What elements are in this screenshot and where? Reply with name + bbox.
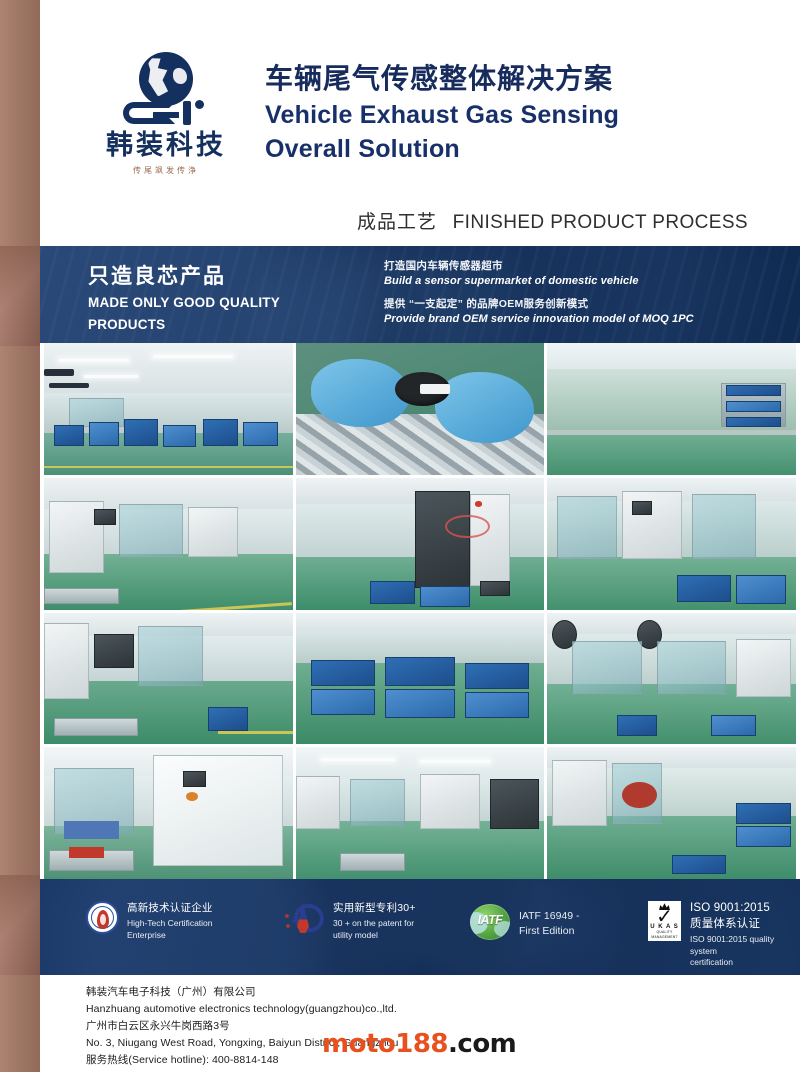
- certification-item: ✓ U K A S QUALITY MANAGEMENT ISO 9001:20…: [648, 901, 780, 968]
- logo-company-name: 韩装科技: [106, 132, 226, 159]
- left-decorative-strip: [0, 0, 40, 1072]
- blue-crates-stacked-on-floor-photo: [296, 613, 545, 745]
- photo-cell: [547, 478, 796, 610]
- cert-desc-line2: utility model: [333, 930, 416, 941]
- cert-title-en: ISO 9001:2015: [690, 901, 780, 917]
- cert-title-cn: 质量体系认证: [690, 917, 780, 933]
- gi-monogram-icon: [123, 97, 209, 127]
- page-header: 韩装科技 传尾飒发传浄 车辆尾气传感整体解决方案 Vehicle Exhaust…: [40, 0, 800, 246]
- banner-point-2-en: Provide brand OEM service innovation mod…: [384, 313, 694, 325]
- certification-bar: 高新技术认证企业 High-Tech Certification Enterpr…: [40, 879, 800, 975]
- banner-slogan-en-line2: PRODUCTS: [88, 316, 280, 334]
- photo-cell: [547, 747, 796, 879]
- poster-page: 韩装科技 传尾飒发传浄 车辆尾气传感整体解决方案 Vehicle Exhaust…: [0, 0, 800, 1072]
- ukas-badge-sub-line2: MANAGEMENT: [651, 935, 677, 939]
- gloved-hands-inspecting-sensor-part-photo: [296, 343, 545, 475]
- photo-cell: [296, 343, 545, 475]
- iatf-badge-label: IATF: [470, 913, 510, 927]
- workers-at-automated-machines-photo: [547, 613, 796, 745]
- banner-point-2-cn: 提供 “一支起定” 的品牌OEM服务创新模式: [384, 296, 694, 311]
- cert-desc-line1: 30 + on the patent for: [333, 918, 416, 929]
- section-heading: 成品工艺 FINISHED PRODUCT PROCESS: [357, 207, 748, 234]
- two-workers-at-production-station-photo: [44, 613, 293, 745]
- certification-item: 高新技术认证企业 High-Tech Certification Enterpr…: [86, 901, 284, 941]
- cert-title-line1: IATF 16949 -: [519, 909, 580, 924]
- ukas-crown-tick-icon: ✓ U K A S QUALITY MANAGEMENT: [648, 901, 681, 941]
- photo-cell: [44, 613, 293, 745]
- strip-sheen: [0, 0, 40, 1072]
- page-title-en-line1: Vehicle Exhaust Gas Sensing: [265, 100, 619, 131]
- photo-cell: [296, 747, 545, 879]
- section-heading-en: FINISHED PRODUCT PROCESS: [453, 212, 748, 233]
- crown-icon: [659, 903, 670, 910]
- patent-rocket-icon: [284, 901, 324, 935]
- cert-title-cn: 实用新型专利30+: [333, 901, 416, 915]
- cert-desc-line1: ISO 9001:2015 quality system: [690, 934, 780, 957]
- white-control-cabinet-room-photo: [44, 747, 293, 879]
- section-heading-cn: 成品工艺: [357, 212, 437, 233]
- photo-cell: [44, 478, 293, 610]
- company-logo: 韩装科技 传尾飒发传浄: [102, 52, 230, 180]
- workers-packing-finished-products-photo: [547, 747, 796, 879]
- workers-assembling-at-bench-photo: [547, 343, 796, 475]
- check-icon: ✓: [656, 910, 673, 924]
- watermark-tld: .com: [448, 1029, 516, 1059]
- certification-item: IATF IATF 16949 - First Edition: [470, 901, 648, 940]
- banner-slogan-block: 只造良芯产品 MADE ONLY GOOD QUALITY PRODUCTS: [88, 260, 280, 334]
- high-tech-seal-icon: [86, 901, 119, 934]
- technician-beside-oven-cabinet-photo: [296, 478, 545, 610]
- photo-cell: [44, 747, 293, 879]
- photo-cell: [296, 478, 545, 610]
- footer-company-en: Hanzhuang automotive electronics technol…: [86, 1001, 398, 1018]
- photo-grid: [44, 343, 796, 879]
- page-title-en-line2: Overall Solution: [265, 134, 619, 165]
- banner-point-1-en: Build a sensor supermarket of domestic v…: [384, 275, 694, 287]
- watermark-brand: moto188: [322, 1029, 448, 1059]
- worker-loading-trays-on-line-photo: [547, 478, 796, 610]
- cert-desc-line2: certification: [690, 957, 780, 968]
- cert-title-cn: 高新技术认证企业: [127, 901, 213, 915]
- header-titles: 车辆尾气传感整体解决方案 Vehicle Exhaust Gas Sensing…: [265, 62, 619, 165]
- certification-item: 实用新型专利30+ 30 + on the patent for utility…: [284, 901, 470, 941]
- banner-points-block: 打造国内车辆传感器超市 Build a sensor supermarket o…: [384, 258, 694, 325]
- photo-cell: [296, 613, 545, 745]
- cert-title-line2: First Edition: [519, 924, 580, 939]
- cert-desc-line1: High-Tech Certification: [127, 918, 213, 929]
- slogan-banner: 只造良芯产品 MADE ONLY GOOD QUALITY PRODUCTS 打…: [40, 246, 800, 343]
- site-watermark: moto188.com: [322, 1029, 516, 1059]
- page-title-cn: 车辆尾气传感整体解决方案: [265, 62, 619, 96]
- staff-at-conveyor-line-photo: [296, 747, 545, 879]
- cert-desc-line2: Enterprise: [127, 930, 213, 941]
- operator-at-testing-machine-photo: [44, 478, 293, 610]
- photo-cell: [547, 343, 796, 475]
- banner-slogan-en-line1: MADE ONLY GOOD QUALITY: [88, 294, 280, 312]
- assembly-line-wide-view-photo: [44, 343, 293, 475]
- photo-cell: [547, 613, 796, 745]
- certification-list: 高新技术认证企业 High-Tech Certification Enterpr…: [86, 901, 780, 968]
- banner-slogan-cn: 只造良芯产品: [88, 260, 280, 290]
- banner-point-1-cn: 打造国内车辆传感器超市: [384, 258, 694, 273]
- photo-cell: [44, 343, 293, 475]
- iatf-globe-icon: IATF: [470, 904, 510, 940]
- logo-slogan: 传尾飒发传浄: [133, 165, 199, 176]
- footer-company-cn: 韩装汽车电子科技（广州）有限公司: [86, 984, 398, 1001]
